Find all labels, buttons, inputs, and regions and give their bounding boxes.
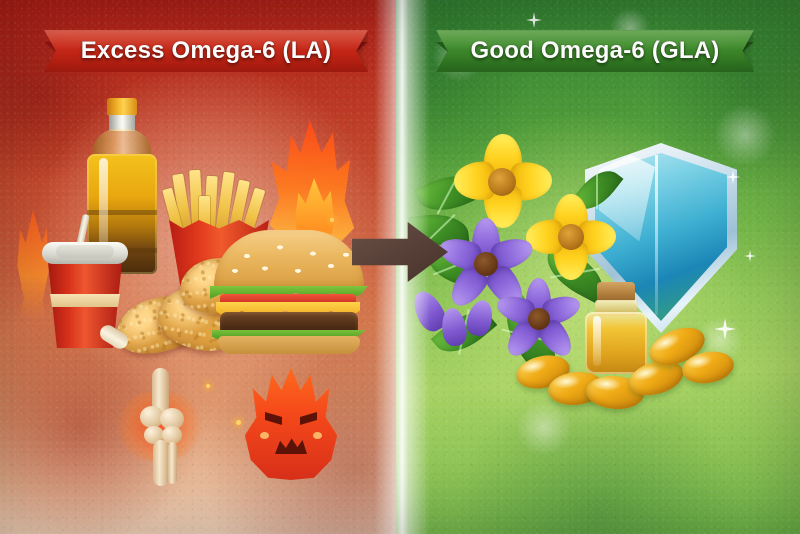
burger-bottom-bun: [218, 336, 360, 354]
left-panel-excess-omega6: [0, 0, 404, 534]
right-panel-good-omega6: [396, 0, 800, 534]
bottle-rib: [87, 210, 157, 215]
right-panel-banner: Good Omega-6 (GLA): [436, 30, 754, 72]
flame-cheek-right: [313, 432, 322, 439]
left-panel-banner: Excess Omega-6 (LA): [44, 30, 368, 72]
inflamed-knee-joint-icon: [128, 368, 194, 486]
flame-eye-left: [265, 412, 282, 425]
ember-icon: [236, 420, 241, 425]
oil-jar-icon: [583, 282, 649, 376]
flame-face: [259, 404, 323, 464]
bokeh-icon: [516, 400, 572, 456]
ember-icon: [330, 218, 334, 222]
shield-crest: [655, 155, 658, 315]
omega-6-comparison-infographic: Excess Omega-6 (LA) Good Omega-6 (GLA): [0, 0, 800, 534]
borage-flower-icon: [494, 278, 586, 364]
evening-primrose-flower-icon: [528, 194, 614, 280]
angry-flame-character-icon: [243, 368, 339, 480]
cup-lid-inner: [56, 245, 114, 258]
left-banner-label: Excess Omega-6 (LA): [44, 37, 368, 65]
ember-icon: [206, 384, 210, 388]
flame-eye-right: [300, 412, 317, 425]
cheeseburger-icon: [214, 230, 364, 352]
right-banner-label: Good Omega-6 (GLA): [436, 37, 754, 65]
bottle-cap: [107, 98, 137, 116]
flame-mouth: [275, 434, 307, 454]
jar-highlight: [593, 316, 601, 366]
flame-cheek-left: [260, 432, 269, 439]
jar-cork: [597, 282, 635, 301]
burger-top-bun: [214, 230, 364, 292]
